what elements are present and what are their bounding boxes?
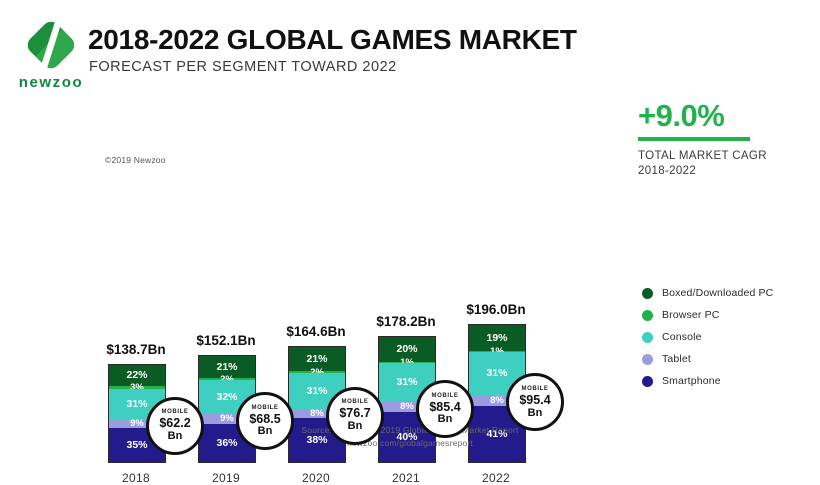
source-line: Source: ©Newzoo | 2019 Global Games Mark…: [0, 424, 820, 437]
segment-percent-label: 31%: [306, 386, 327, 397]
bar-total-label: $196.0Bn: [466, 302, 525, 317]
segment-percent-label: 19%: [486, 333, 507, 344]
callout-caption: MOBILE: [252, 405, 279, 411]
segment-percent-label: 20%: [396, 344, 417, 355]
source-url: newzoo.com/globalgamesreport: [0, 437, 820, 450]
segment-percent-label: 21%: [306, 354, 327, 365]
bar-total-label: $178.2Bn: [376, 314, 435, 329]
legend-item[interactable]: Tablet: [642, 348, 773, 370]
x-axis-label-2021: 2021: [392, 471, 420, 485]
callout-unit: Bn: [258, 426, 273, 437]
segment-percent-label: 9%: [220, 414, 234, 424]
cagr-block: +9.0% TOTAL MARKET CAGR 2018-2022: [638, 100, 808, 180]
callout-caption: MOBILE: [162, 409, 189, 415]
mobile-callout-bubble[interactable]: MOBILE$95.4Bn: [506, 373, 564, 431]
mobile-callout-bubble[interactable]: MOBILE$85.4Bn: [416, 380, 474, 438]
legend-color-swatch: [642, 376, 653, 387]
segment-percent-label: 8%: [310, 409, 324, 419]
x-axis-label-2020: 2020: [302, 471, 330, 485]
x-axis-label-2018: 2018: [122, 471, 150, 485]
segment-percent-label: 32%: [216, 392, 237, 403]
legend-color-swatch: [642, 288, 653, 299]
legend-item[interactable]: Browser PC: [642, 304, 773, 326]
legend-label: Smartphone: [662, 375, 721, 387]
callout-unit: Bn: [528, 408, 543, 419]
callout-unit: Bn: [348, 421, 363, 432]
callout-caption: MOBILE: [342, 399, 369, 405]
legend-item[interactable]: Console: [642, 326, 773, 348]
bar-group-2018[interactable]: $138.7Bn22%3%31%9%35%2018MOBILE$62.2Bn: [108, 94, 164, 461]
legend-item[interactable]: Boxed/Downloaded PC: [642, 282, 773, 304]
callout-value: $95.4: [519, 394, 550, 407]
cagr-label-line2: 2018-2022: [638, 164, 808, 180]
stacked-bar-chart: ©2019 Newzoo $138.7Bn22%3%31%9%35%2018MO…: [0, 0, 600, 461]
x-axis-label-2019: 2019: [212, 471, 240, 485]
legend-color-swatch: [642, 332, 653, 343]
mobile-callout-bubble[interactable]: MOBILE$62.2Bn: [146, 397, 204, 455]
callout-unit: Bn: [168, 431, 183, 442]
callout-value: $76.7: [339, 407, 370, 420]
legend-label: Boxed/Downloaded PC: [662, 287, 773, 299]
x-axis-label-2022: 2022: [482, 471, 510, 485]
segment-percent-label: 8%: [400, 402, 414, 412]
legend-label: Tablet: [662, 353, 691, 365]
legend-item[interactable]: Smartphone: [642, 370, 773, 392]
cagr-label-line1: TOTAL MARKET CAGR: [638, 149, 808, 165]
segment-percent-label: 21%: [216, 362, 237, 373]
mobile-callout-bubble[interactable]: MOBILE$68.5Bn: [236, 392, 294, 450]
bar-total-label: $138.7Bn: [106, 342, 165, 357]
mobile-callout-bubble[interactable]: MOBILE$76.7Bn: [326, 387, 384, 445]
callout-caption: MOBILE: [522, 386, 549, 392]
bar-total-label: $164.6Bn: [286, 324, 345, 339]
cagr-underline: [638, 137, 750, 141]
chart-legend: Boxed/Downloaded PCBrowser PCConsoleTabl…: [642, 282, 773, 392]
bar-group-2019[interactable]: $152.1Bn21%2%32%9%36%2019MOBILE$68.5Bn: [198, 94, 254, 461]
segment-percent-label: 31%: [396, 377, 417, 388]
segment-percent-label: 22%: [126, 370, 147, 381]
page-footer: Source: ©Newzoo | 2019 Global Games Mark…: [0, 424, 820, 450]
callout-value: $85.4: [429, 401, 460, 414]
legend-label: Browser PC: [662, 309, 720, 321]
bar-group-2022[interactable]: $196.0Bn19%1%31%8%41%2022MOBILE$95.4Bn: [468, 94, 524, 461]
bar-group-2020[interactable]: $164.6Bn21%2%31%8%38%2020MOBILE$76.7Bn: [288, 94, 344, 461]
callout-value: $68.5: [249, 413, 280, 426]
cagr-value: +9.0%: [638, 100, 808, 131]
callout-unit: Bn: [438, 414, 453, 425]
segment-percent-label: 31%: [486, 368, 507, 379]
cagr-label: TOTAL MARKET CAGR 2018-2022: [638, 149, 808, 180]
bar-total-label: $152.1Bn: [196, 333, 255, 348]
legend-color-swatch: [642, 310, 653, 321]
legend-color-swatch: [642, 354, 653, 365]
callout-caption: MOBILE: [432, 393, 459, 399]
callout-value: $62.2: [159, 417, 190, 430]
segment-percent-label: 8%: [490, 396, 504, 406]
bar-group-2021[interactable]: $178.2Bn20%1%31%8%40%2021MOBILE$85.4Bn: [378, 94, 434, 461]
segment-percent-label: 31%: [126, 399, 147, 410]
legend-label: Console: [662, 331, 702, 343]
